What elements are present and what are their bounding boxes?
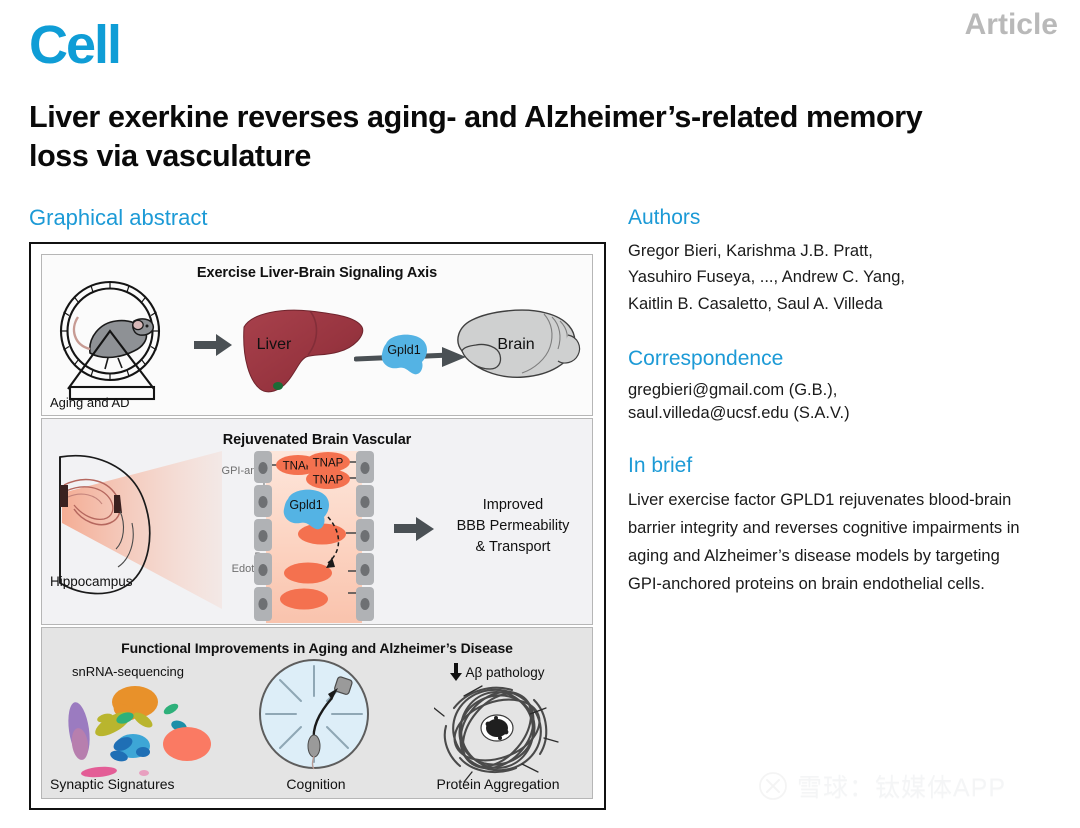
authors-list: Gregor Bieri, Karishma J.B. Pratt, Yasuh… bbox=[628, 238, 1028, 317]
protein-aggregation-caption: Protein Aggregation bbox=[408, 776, 588, 792]
brain-label: Brain bbox=[497, 336, 534, 353]
gpld1-label: Gpld1 bbox=[387, 343, 420, 357]
authors-line: Yasuhiro Fuseya, ..., Andrew C. Yang, bbox=[628, 264, 1028, 290]
svg-text:Gpld1: Gpld1 bbox=[289, 498, 322, 512]
authors-heading: Authors bbox=[628, 206, 700, 230]
arrow-right-icon bbox=[194, 332, 234, 358]
journal-logo: Cell bbox=[29, 18, 120, 72]
umap-cluster-plot bbox=[47, 682, 227, 782]
protein-aggregate-icon bbox=[434, 680, 560, 782]
gpld1-protein-icon: Gpld1 bbox=[376, 330, 434, 380]
synaptic-signatures-caption: Synaptic Signatures bbox=[50, 776, 175, 792]
panel-exercise-axis: Exercise Liver-Brain Signaling Axis bbox=[41, 254, 593, 416]
wheel-caption: Aging and AD bbox=[50, 395, 130, 410]
correspondence-list: gregbieri@gmail.com (G.B.), saul.villeda… bbox=[628, 379, 1028, 426]
watermark-text: 雪球：钛媒体APP bbox=[797, 768, 1006, 804]
graphical-abstract-heading: Graphical abstract bbox=[29, 205, 208, 231]
abeta-pathology-label: Aβ pathology bbox=[412, 662, 582, 682]
correspondence-email[interactable]: saul.villeda@ucsf.edu (S.A.V.) bbox=[628, 402, 1028, 425]
liver-label: Liver bbox=[257, 336, 292, 353]
brain-icon: Brain bbox=[438, 305, 588, 391]
panel-bottom-title: Functional Improvements in Aging and Alz… bbox=[42, 640, 592, 656]
snrna-seq-label: snRNA-sequencing bbox=[72, 664, 184, 679]
authors-line: Gregor Bieri, Karishma J.B. Pratt, bbox=[628, 238, 1028, 264]
correspondence-heading: Correspondence bbox=[628, 347, 783, 371]
authors-line: Kaitlin B. Casaletto, Saul A. Villeda bbox=[628, 291, 1028, 317]
arrow-right-outcome-icon bbox=[394, 515, 436, 543]
page-title: Liver exerkine reverses aging- and Alzhe… bbox=[29, 98, 959, 176]
correspondence-email[interactable]: gregbieri@gmail.com (G.B.), bbox=[628, 379, 1028, 402]
panel-brain-vascular: Rejuvenated Brain Vascular Hippocampus bbox=[41, 418, 593, 625]
graphical-abstract-frame: Exercise Liver-Brain Signaling Axis bbox=[29, 242, 606, 810]
outcome-text: Improved BBB Permeability & Transport bbox=[438, 495, 588, 558]
article-type-label: Article bbox=[965, 8, 1058, 42]
in-brief-heading: In brief bbox=[628, 454, 692, 478]
panel-functional-improvements: Functional Improvements in Aging and Alz… bbox=[41, 627, 593, 799]
cognition-caption: Cognition bbox=[252, 776, 380, 792]
svg-text:TNAP: TNAP bbox=[313, 475, 344, 487]
in-brief-text: Liver exercise factor GPLD1 rejuvenates … bbox=[628, 486, 1028, 598]
radial-arm-maze-icon bbox=[252, 656, 380, 774]
svg-text:TNAP: TNAP bbox=[313, 458, 344, 470]
arrow-down-icon bbox=[449, 662, 463, 682]
liver-icon: Liver bbox=[238, 305, 370, 400]
panel-mid-title: Rejuvenated Brain Vascular bbox=[42, 432, 592, 448]
hippocampus-caption: Hippocampus bbox=[50, 574, 133, 589]
watermark: 雪球：钛媒体APP bbox=[758, 768, 1006, 804]
running-wheel-icon bbox=[48, 273, 188, 413]
xueqiu-logo-icon bbox=[758, 771, 788, 801]
blood-vessel-diagram: TNAP TNAP TNAP Gpld1 bbox=[242, 451, 402, 623]
